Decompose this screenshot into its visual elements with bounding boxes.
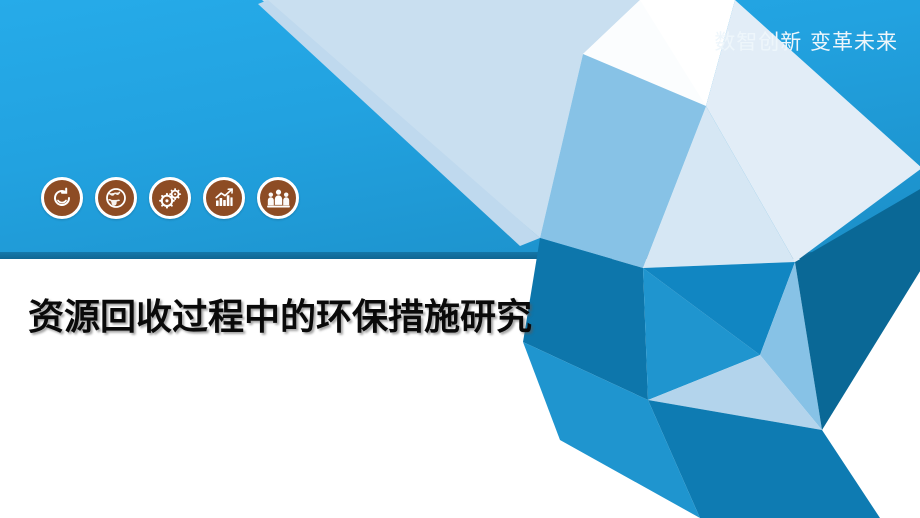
people-group-icon[interactable] [257,177,299,219]
globe-glyph [104,186,128,210]
globe-icon[interactable] [95,177,137,219]
bar-chart-icon[interactable] [203,177,245,219]
icon-strip [41,177,299,219]
bar-chart-glyph [212,186,236,210]
recycle-arrow-glyph [50,186,74,210]
gears-glyph [158,186,183,211]
recycle-arrow-icon[interactable] [41,177,83,219]
page-title: 资源回收过程中的环保措施研究 [28,292,548,343]
gears-icon[interactable] [149,177,191,219]
low-poly-triangle-graphic [0,0,920,518]
tagline-text: 数智创新 变革未来 [714,26,898,56]
people-group-glyph [266,186,291,211]
presentation-cover-slide: 数智创新 变革未来 [0,0,920,518]
